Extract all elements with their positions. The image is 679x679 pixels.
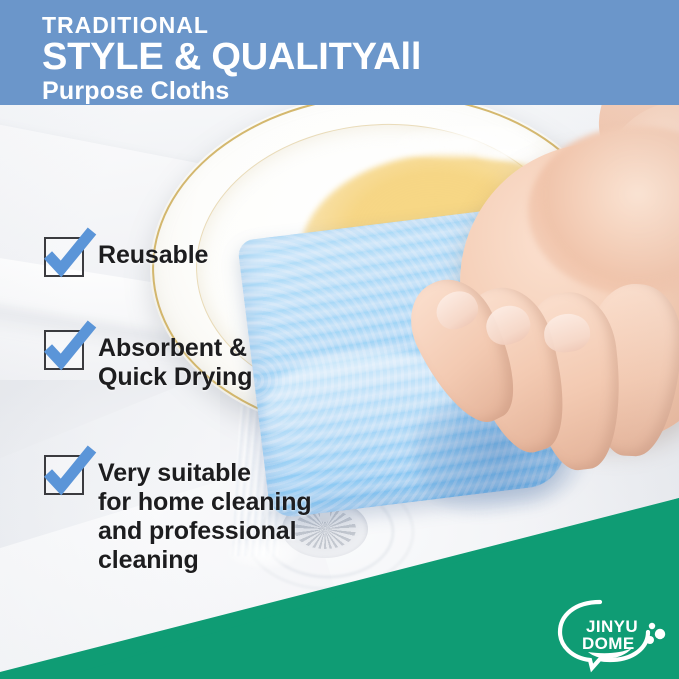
header-subhead: Purpose Cloths bbox=[42, 77, 421, 105]
hand bbox=[388, 40, 679, 520]
feature-item-very-suitable: Very suitable for home cleaning and prof… bbox=[44, 455, 312, 575]
product-marketing-image: TRADITIONAL STYLE & QUALITYAll Purpose C… bbox=[0, 0, 679, 679]
feature-label: Very suitable for home cleaning and prof… bbox=[98, 455, 312, 575]
feature-label: Absorbent & Quick Drying bbox=[98, 330, 252, 392]
checkmark-icon bbox=[44, 330, 84, 370]
brand-logo: JINYU DOME bbox=[556, 596, 672, 670]
feature-label: Reusable bbox=[98, 237, 208, 270]
header-eyebrow: TRADITIONAL bbox=[42, 12, 421, 38]
brand-name-line2: DOME bbox=[582, 634, 635, 653]
checkmark-icon bbox=[44, 237, 84, 277]
checkmark-icon bbox=[44, 455, 84, 495]
header-headline: STYLE & QUALITYAll bbox=[42, 37, 421, 77]
header-banner: TRADITIONAL STYLE & QUALITYAll Purpose C… bbox=[0, 0, 679, 105]
feature-item-absorbent: Absorbent & Quick Drying bbox=[44, 330, 252, 392]
header-text: TRADITIONAL STYLE & QUALITYAll Purpose C… bbox=[42, 12, 421, 105]
feature-item-reusable: Reusable bbox=[44, 237, 208, 277]
